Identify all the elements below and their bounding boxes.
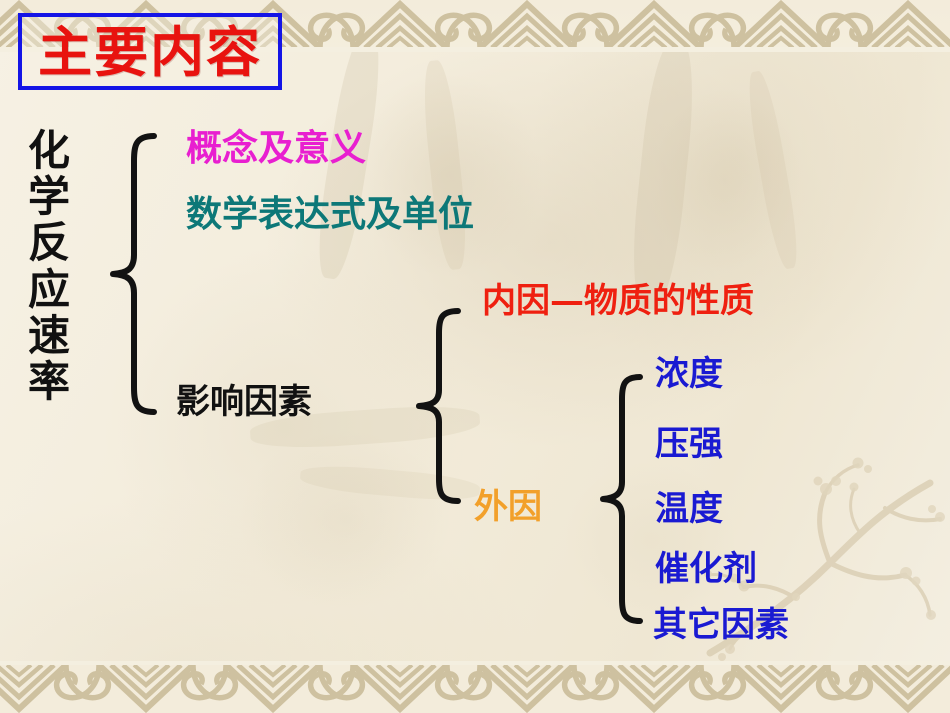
node-internal-cause: 内因—物质的性质 bbox=[482, 284, 754, 318]
brush-stroke-3 bbox=[626, 38, 700, 311]
brush-stroke-6 bbox=[299, 462, 481, 504]
paper-texture bbox=[0, 0, 950, 713]
node-temperature: 温度 bbox=[655, 492, 723, 526]
page-title: 主要内容 bbox=[38, 25, 262, 79]
brush-stroke-4 bbox=[743, 69, 803, 270]
root-label: 化学反应速率 bbox=[22, 128, 76, 405]
node-concentration: 浓度 bbox=[655, 357, 723, 391]
node-catalyst: 催化剂 bbox=[655, 552, 757, 586]
node-other-factors: 其它因素 bbox=[653, 608, 789, 642]
root-brace bbox=[110, 133, 156, 415]
bottom-border-pattern bbox=[0, 661, 950, 713]
slide-canvas: 主要内容 化学反应速率 概念及意义 数学表达式及单位 影响因素 内因—物质的性质… bbox=[0, 0, 950, 713]
external-brace bbox=[600, 374, 642, 624]
node-expression: 数学表达式及单位 bbox=[186, 196, 474, 232]
node-external-cause: 外因 bbox=[474, 490, 542, 524]
factors-brace bbox=[416, 308, 460, 504]
calligraphy-watermark-3 bbox=[180, 380, 510, 660]
node-pressure: 压强 bbox=[655, 427, 723, 461]
title-box: 主要内容 bbox=[18, 13, 282, 90]
brush-stroke-2 bbox=[419, 59, 471, 271]
node-factors: 影响因素 bbox=[176, 385, 312, 419]
node-concept: 概念及意义 bbox=[186, 130, 366, 166]
